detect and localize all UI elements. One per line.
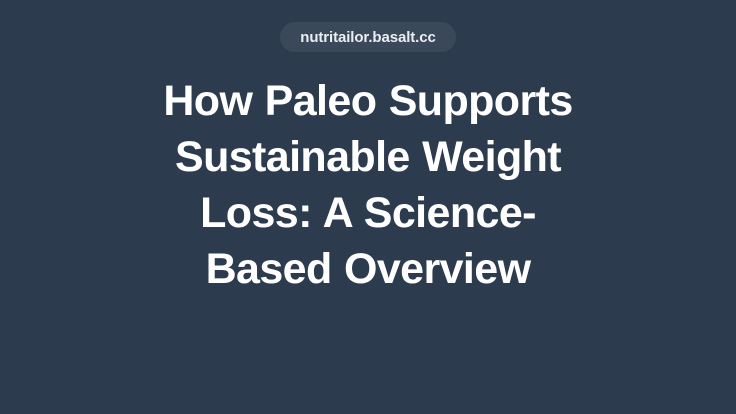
- link-preview-card: nutritailor.basalt.cc How Paleo Supports…: [0, 0, 736, 414]
- domain-badge: nutritailor.basalt.cc: [280, 22, 455, 52]
- page-title: How Paleo Supports Sustainable Weight Lo…: [152, 73, 584, 297]
- domain-badge-label: nutritailor.basalt.cc: [300, 30, 435, 45]
- title-block: How Paleo Supports Sustainable Weight Lo…: [152, 73, 584, 297]
